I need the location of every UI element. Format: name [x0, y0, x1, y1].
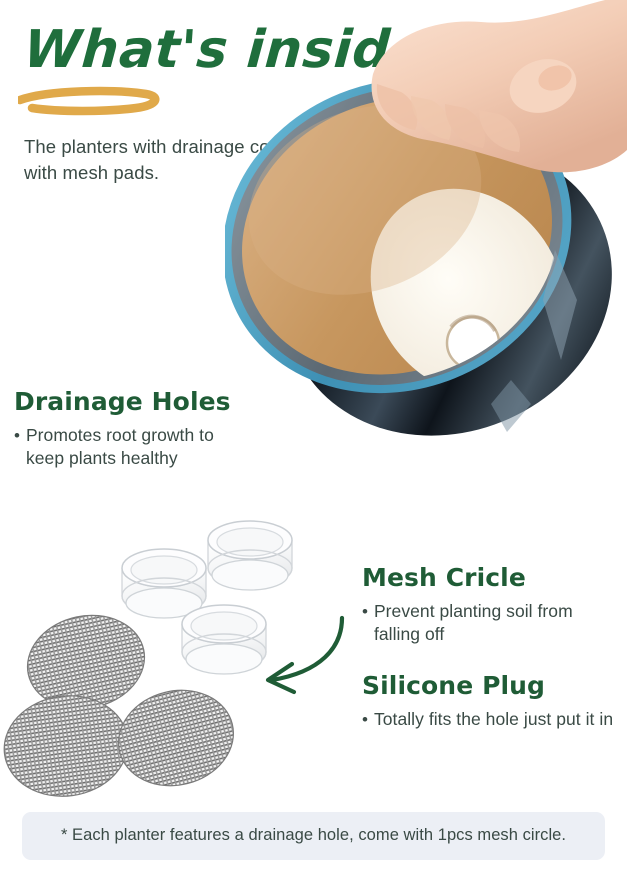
infographic-page: What's inside? The planters with drainag… — [0, 0, 627, 879]
bullet-marker-icon: • — [362, 708, 368, 732]
planter-illustration — [225, 0, 627, 520]
feature-bullet-text: Prevent planting soil from falling off — [374, 600, 612, 647]
feature-bullet: • Promotes root growth to keep plants he… — [14, 424, 239, 471]
silicone-plug — [122, 549, 206, 618]
silicone-plug — [208, 521, 292, 590]
footnote-text: * Each planter features a drainage hole,… — [61, 825, 566, 846]
feature-bullet-text: Totally fits the hole just put it in — [374, 708, 613, 731]
feature-drainage-holes: Drainage Holes • Promotes root growth to… — [14, 388, 239, 470]
parts-photo — [0, 520, 360, 810]
feature-silicone-plug: Silicone Plug • Totally fits the hole ju… — [362, 672, 617, 732]
feature-bullet-text: Promotes root growth to keep plants heal… — [26, 424, 239, 471]
feature-mesh-circle: Mesh Cricle • Prevent planting soil from… — [362, 564, 612, 646]
footnote-banner: * Each planter features a drainage hole,… — [22, 812, 605, 860]
silicone-plug — [182, 605, 266, 674]
feature-heading: Drainage Holes — [14, 388, 239, 417]
mesh-circle — [0, 688, 134, 804]
silicone-plug-group — [122, 521, 292, 674]
gold-swoosh-underline-icon — [18, 86, 168, 120]
feature-bullet: • Prevent planting soil from falling off — [362, 600, 612, 647]
bullet-marker-icon: • — [362, 600, 368, 624]
bullet-marker-icon: • — [14, 424, 20, 448]
planter-photo — [225, 0, 627, 520]
feature-bullet: • Totally fits the hole just put it in — [362, 708, 617, 732]
mesh-circle — [108, 678, 243, 797]
parts-illustration — [0, 520, 360, 810]
feature-heading: Mesh Cricle — [362, 564, 612, 593]
feature-heading: Silicone Plug — [362, 672, 617, 701]
